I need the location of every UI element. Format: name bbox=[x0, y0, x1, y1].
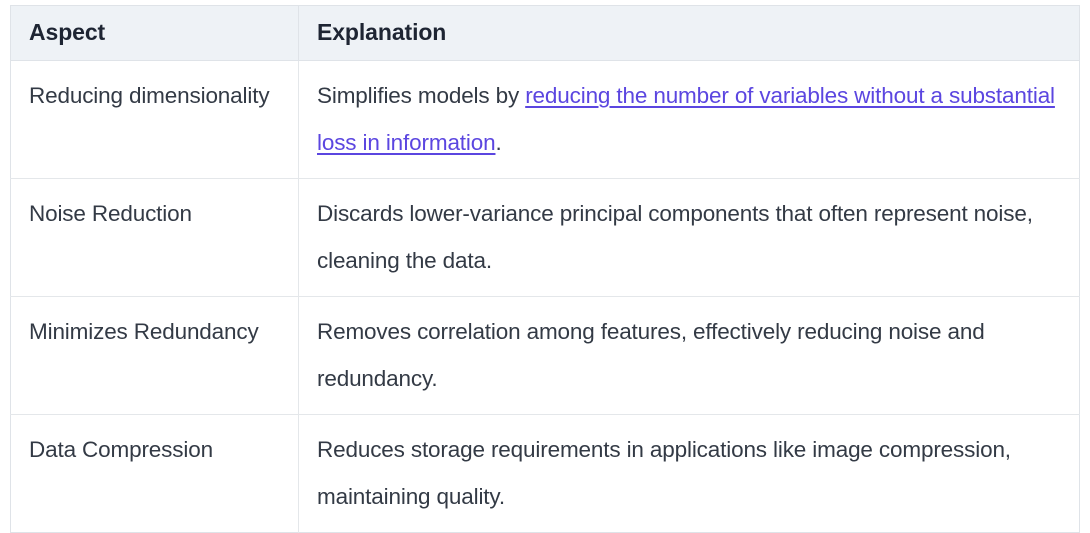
cell-explanation: Reduces storage requirements in applicat… bbox=[299, 415, 1080, 533]
explanation-text-suffix: . bbox=[495, 130, 501, 155]
cell-aspect: Data Compression bbox=[11, 415, 299, 533]
cell-aspect: Noise Reduction bbox=[11, 179, 299, 297]
table-row: Reducing dimensionality Simplifies model… bbox=[11, 61, 1080, 179]
table-body: Reducing dimensionality Simplifies model… bbox=[11, 61, 1080, 533]
cell-aspect: Minimizes Redundancy bbox=[11, 297, 299, 415]
table-container: Aspect Explanation Reducing dimensionali… bbox=[10, 5, 1079, 533]
cell-aspect: Reducing dimensionality bbox=[11, 61, 299, 179]
cell-explanation: Discards lower-variance principal compon… bbox=[299, 179, 1080, 297]
column-header-aspect: Aspect bbox=[11, 6, 299, 61]
aspect-explanation-table: Aspect Explanation Reducing dimensionali… bbox=[10, 5, 1080, 533]
explanation-text-prefix: Simplifies models by bbox=[317, 83, 525, 108]
column-header-explanation: Explanation bbox=[299, 6, 1080, 61]
cell-explanation: Removes correlation among features, effe… bbox=[299, 297, 1080, 415]
cell-explanation: Simplifies models by reducing the number… bbox=[299, 61, 1080, 179]
table-row: Data Compression Reduces storage require… bbox=[11, 415, 1080, 533]
table-row: Minimizes Redundancy Removes correlation… bbox=[11, 297, 1080, 415]
table-header: Aspect Explanation bbox=[11, 6, 1080, 61]
table-row: Noise Reduction Discards lower-variance … bbox=[11, 179, 1080, 297]
table-header-row: Aspect Explanation bbox=[11, 6, 1080, 61]
